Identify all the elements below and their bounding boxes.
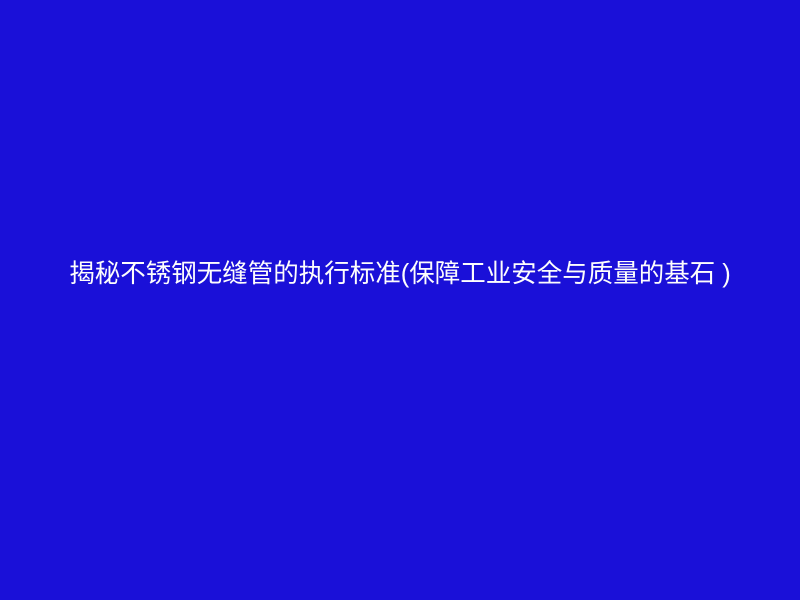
slide-canvas: 揭秘不锈钢无缝管的执行标准(保障工业安全与质量的基石 ) (0, 0, 800, 600)
title-block: 揭秘不锈钢无缝管的执行标准(保障工业安全与质量的基石 ) (0, 247, 800, 302)
page-title: 揭秘不锈钢无缝管的执行标准(保障工业安全与质量的基石 ) (26, 247, 774, 302)
